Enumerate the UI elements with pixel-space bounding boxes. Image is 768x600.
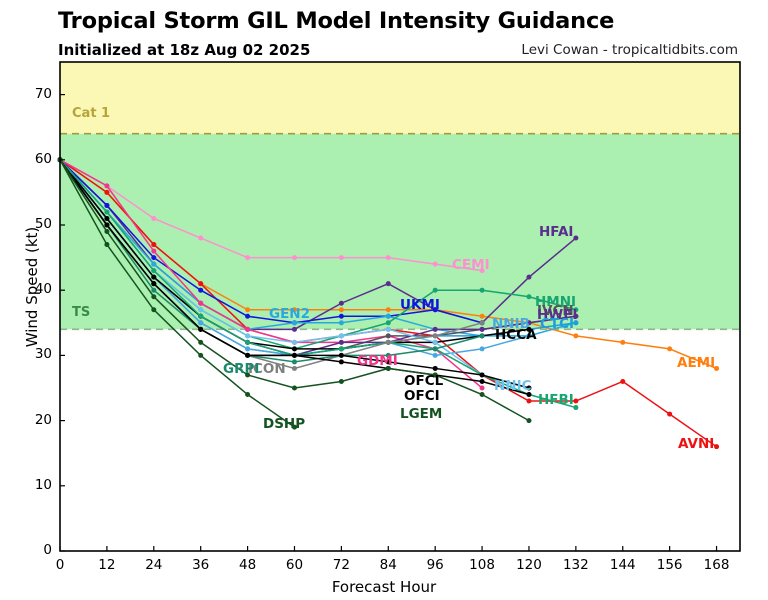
- series-label-dshp: DSHP: [263, 416, 305, 432]
- x-tick-24: 24: [134, 557, 174, 573]
- chart-page: Tropical Storm GIL Model Intensity Guida…: [0, 0, 768, 600]
- series-label-ofcl: OFCL: [404, 373, 443, 389]
- y-tick-70: 70: [18, 86, 52, 102]
- x-tick-168: 168: [697, 557, 737, 573]
- series-label-gdmi: GDMI: [357, 353, 398, 369]
- x-tick-120: 120: [509, 557, 549, 573]
- zone-label-cat-1: Cat 1: [72, 106, 110, 121]
- series-label-avni: AVNI: [678, 436, 714, 452]
- plot-area: [0, 0, 768, 600]
- series-label-hfai: HFAI: [539, 224, 573, 240]
- band-cat-1: [60, 62, 740, 134]
- x-tick-108: 108: [462, 557, 502, 573]
- series-label-grpi: GRPI: [223, 361, 259, 377]
- x-tick-36: 36: [181, 557, 221, 573]
- x-tick-96: 96: [415, 557, 455, 573]
- x-tick-72: 72: [321, 557, 361, 573]
- y-tick-60: 60: [18, 151, 52, 167]
- y-tick-40: 40: [18, 281, 52, 297]
- series-label-hcca: HCCA: [495, 327, 537, 343]
- zone-label-ts: TS: [72, 305, 90, 320]
- y-tick-50: 50: [18, 216, 52, 232]
- series-label-hfbi: HFBI: [538, 392, 574, 408]
- x-tick-84: 84: [368, 557, 408, 573]
- series-label-gen2: GEN2: [269, 306, 310, 322]
- y-tick-0: 0: [18, 542, 52, 558]
- x-tick-132: 132: [556, 557, 596, 573]
- intensity-guidance-chart: [0, 0, 768, 600]
- series-label-ctci: CTCI: [540, 316, 574, 332]
- series-label-nnic: NNIC: [494, 378, 532, 394]
- series-label-lgem: LGEM: [400, 406, 442, 422]
- series-label-ofci: OFCI: [404, 388, 440, 404]
- x-tick-144: 144: [603, 557, 643, 573]
- x-tick-156: 156: [650, 557, 690, 573]
- y-tick-30: 30: [18, 346, 52, 362]
- series-label-cemi: CEMI: [452, 257, 490, 273]
- series-label-ukmi: UKMI: [400, 297, 440, 313]
- x-tick-60: 60: [274, 557, 314, 573]
- x-tick-0: 0: [40, 557, 80, 573]
- series-label-aemi: AEMI: [677, 355, 715, 371]
- y-tick-10: 10: [18, 477, 52, 493]
- x-axis-label: Forecast Hour: [0, 578, 768, 596]
- x-tick-48: 48: [228, 557, 268, 573]
- x-tick-12: 12: [87, 557, 127, 573]
- y-tick-20: 20: [18, 412, 52, 428]
